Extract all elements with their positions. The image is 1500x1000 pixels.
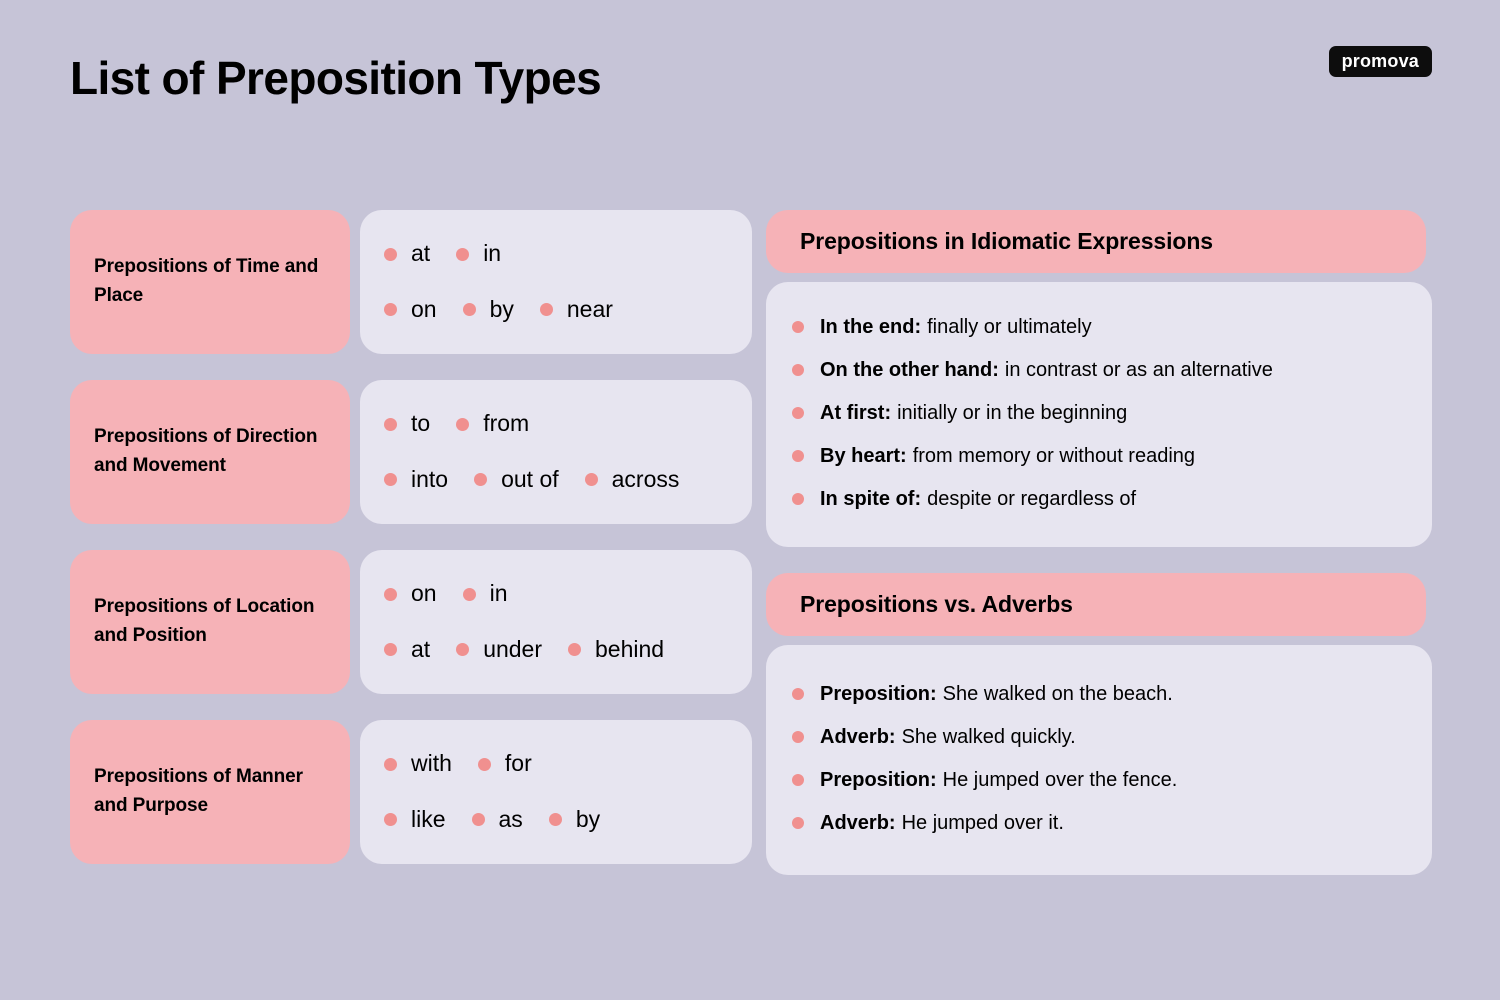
preposition-label: from [483, 410, 529, 438]
bullet-dot-icon [792, 493, 804, 505]
bullet-dot-icon [549, 813, 562, 826]
bullet-dot-icon [384, 758, 397, 771]
preposition-item: under [456, 636, 542, 664]
bullet-dot-icon [792, 450, 804, 462]
entry-description: in contrast or as an alternative [1005, 359, 1273, 381]
bullet-dot-icon [792, 407, 804, 419]
bullet-dot-icon [384, 473, 397, 486]
preposition-item: as [472, 806, 523, 834]
bullet-dot-icon [463, 303, 476, 316]
list-item-text: Adverb:She walked quickly. [820, 724, 1076, 751]
entry-description: despite or regardless of [927, 488, 1136, 510]
preposition-list: oninatunderbehind [360, 550, 752, 694]
preposition-label: out of [501, 466, 559, 494]
preposition-label: into [411, 466, 448, 494]
list-item-text: On the other hand:in contrast or as an a… [820, 357, 1273, 384]
entry-term: In spite of: [820, 488, 921, 510]
preposition-item: from [456, 410, 529, 438]
list-item: Preposition:He jumped over the fence. [792, 759, 1406, 802]
preposition-label: to [411, 410, 430, 438]
preposition-item: out of [474, 466, 559, 494]
bullet-dot-icon [792, 688, 804, 700]
category-column: Prepositions of Time and Placeatinonbyne… [70, 210, 752, 890]
promova-logo: promova [1329, 46, 1432, 77]
bullet-dot-icon [478, 758, 491, 771]
preposition-label: near [567, 296, 613, 324]
bullet-dot-icon [456, 643, 469, 656]
preposition-item: across [585, 466, 680, 494]
entry-description: from memory or without reading [913, 445, 1195, 467]
preposition-label: at [411, 636, 430, 664]
bullet-dot-icon [585, 473, 598, 486]
list-item-text: Adverb:He jumped over it. [820, 810, 1064, 837]
bullet-dot-icon [456, 248, 469, 261]
preposition-item: like [384, 806, 446, 834]
preposition-item: at [384, 636, 430, 664]
list-item: Adverb:He jumped over it. [792, 802, 1406, 845]
list-item-text: By heart:from memory or without reading [820, 443, 1195, 470]
preposition-label: as [499, 806, 523, 834]
list-item: By heart:from memory or without reading [792, 435, 1406, 478]
entry-term: Adverb: [820, 726, 896, 748]
entry-description: She walked quickly. [902, 726, 1076, 748]
entry-term: Preposition: [820, 683, 937, 705]
bullet-dot-icon [456, 418, 469, 431]
list-item: On the other hand:in contrast or as an a… [792, 349, 1406, 392]
preposition-label: by [576, 806, 600, 834]
bullet-dot-icon [792, 321, 804, 333]
preposition-item: by [463, 296, 514, 324]
category-row: Prepositions of Location and Positiononi… [70, 550, 752, 694]
bullet-dot-icon [792, 731, 804, 743]
preposition-label: in [483, 240, 501, 268]
page-title: List of Preposition Types [70, 54, 601, 102]
preposition-label: in [490, 580, 508, 608]
preposition-list: withforlikeasby [360, 720, 752, 864]
category-label: Prepositions of Direction and Movement [70, 380, 350, 524]
list-item-text: Preposition:She walked on the beach. [820, 681, 1173, 708]
section-title: Prepositions vs. Adverbs [766, 573, 1426, 636]
entry-term: On the other hand: [820, 359, 999, 381]
section-title: Prepositions in Idiomatic Expressions [766, 210, 1426, 273]
page-header: List of Preposition Types promova [0, 0, 1500, 200]
category-row: Prepositions of Manner and Purposewithfo… [70, 720, 752, 864]
entry-term: At first: [820, 402, 891, 424]
preposition-list: atinonbynear [360, 210, 752, 354]
preposition-item: near [540, 296, 613, 324]
preposition-item: for [478, 750, 532, 778]
entry-description: She walked on the beach. [943, 683, 1173, 705]
preposition-label: by [490, 296, 514, 324]
detail-section: Prepositions vs. AdverbsPreposition:She … [766, 573, 1432, 875]
entry-description: initially or in the beginning [897, 402, 1127, 424]
bullet-dot-icon [792, 817, 804, 829]
bullet-dot-icon [384, 248, 397, 261]
entry-term: By heart: [820, 445, 907, 467]
list-item-text: At first:initially or in the beginning [820, 400, 1127, 427]
preposition-label: across [612, 466, 680, 494]
preposition-item: in [456, 240, 501, 268]
preposition-label: at [411, 240, 430, 268]
preposition-label: under [483, 636, 542, 664]
list-item-text: Preposition:He jumped over the fence. [820, 767, 1177, 794]
category-label: Prepositions of Time and Place [70, 210, 350, 354]
preposition-item: to [384, 410, 430, 438]
preposition-item: into [384, 466, 448, 494]
bullet-dot-icon [384, 418, 397, 431]
bullet-dot-icon [463, 588, 476, 601]
bullet-dot-icon [568, 643, 581, 656]
entry-description: finally or ultimately [927, 316, 1092, 338]
preposition-item: by [549, 806, 600, 834]
bullet-dot-icon [384, 303, 397, 316]
entry-term: Adverb: [820, 812, 896, 834]
list-item: In the end:finally or ultimately [792, 306, 1406, 349]
detail-section: Prepositions in Idiomatic ExpressionsIn … [766, 210, 1432, 547]
preposition-label: for [505, 750, 532, 778]
category-label: Prepositions of Location and Position [70, 550, 350, 694]
list-item: In spite of:despite or regardless of [792, 478, 1406, 521]
entry-term: In the end: [820, 316, 921, 338]
preposition-item: on [384, 296, 437, 324]
preposition-label: like [411, 806, 446, 834]
list-item: Preposition:She walked on the beach. [792, 673, 1406, 716]
preposition-item: behind [568, 636, 664, 664]
list-item-text: In the end:finally or ultimately [820, 314, 1092, 341]
details-column: Prepositions in Idiomatic ExpressionsIn … [766, 210, 1432, 901]
bullet-dot-icon [384, 813, 397, 826]
preposition-item: in [463, 580, 508, 608]
bullet-dot-icon [384, 643, 397, 656]
preposition-label: behind [595, 636, 664, 664]
list-item: Adverb:She walked quickly. [792, 716, 1406, 759]
preposition-label: with [411, 750, 452, 778]
section-body: In the end:finally or ultimatelyOn the o… [766, 282, 1432, 547]
preposition-label: on [411, 580, 437, 608]
bullet-dot-icon [474, 473, 487, 486]
category-row: Prepositions of Time and Placeatinonbyne… [70, 210, 752, 354]
bullet-dot-icon [792, 364, 804, 376]
list-item: At first:initially or in the beginning [792, 392, 1406, 435]
section-body: Preposition:She walked on the beach.Adve… [766, 645, 1432, 875]
bullet-dot-icon [472, 813, 485, 826]
preposition-list: tofromintoout ofacross [360, 380, 752, 524]
entry-description: He jumped over it. [902, 812, 1064, 834]
bullet-dot-icon [540, 303, 553, 316]
preposition-item: at [384, 240, 430, 268]
preposition-item: with [384, 750, 452, 778]
entry-term: Preposition: [820, 769, 937, 791]
preposition-item: on [384, 580, 437, 608]
category-row: Prepositions of Direction and Movementto… [70, 380, 752, 524]
bullet-dot-icon [792, 774, 804, 786]
list-item-text: In spite of:despite or regardless of [820, 486, 1136, 513]
bullet-dot-icon [384, 588, 397, 601]
category-label: Prepositions of Manner and Purpose [70, 720, 350, 864]
content-board: Prepositions of Time and Placeatinonbyne… [0, 210, 1500, 880]
entry-description: He jumped over the fence. [943, 769, 1178, 791]
preposition-label: on [411, 296, 437, 324]
